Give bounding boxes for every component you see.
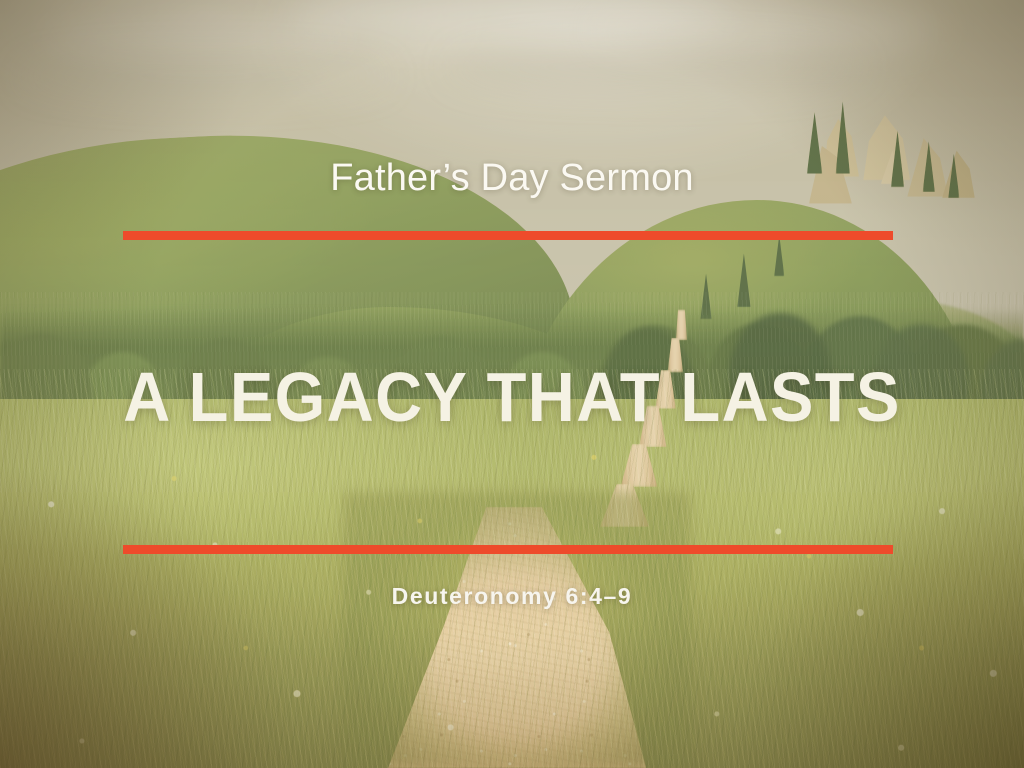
accent-rule-bottom — [123, 545, 893, 554]
accent-rule-top — [123, 231, 893, 240]
slide-eyebrow: Father’s Day Sermon — [0, 158, 1024, 200]
slide-headline: A LEGACY THAT LASTS — [36, 362, 988, 432]
sermon-title-slide: Father’s Day Sermon A LEGACY THAT LASTS … — [0, 0, 1024, 768]
slide-content: Father’s Day Sermon A LEGACY THAT LASTS … — [0, 0, 1024, 768]
scripture-reference: Deuteronomy 6:4–9 — [0, 583, 1024, 610]
